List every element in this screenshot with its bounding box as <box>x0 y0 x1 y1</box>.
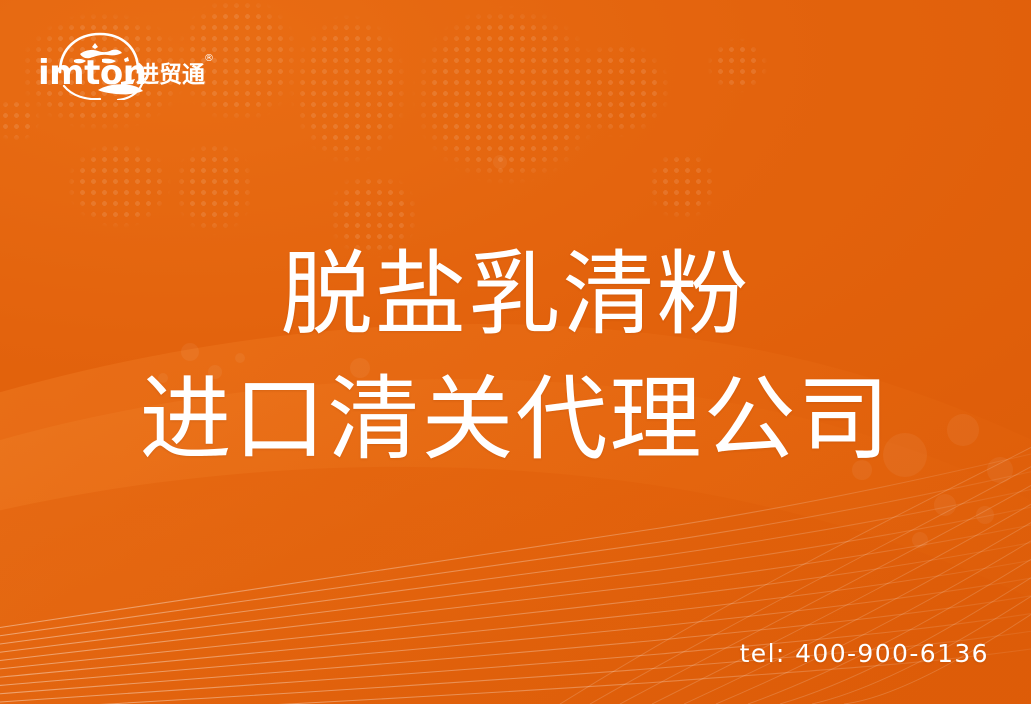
company-logo[interactable]: imton 进贸通 ® imton 进贸通 <box>38 28 213 100</box>
contact-phone[interactable]: tel: 400-900-6136 <box>740 639 989 668</box>
logo-wordmark-chinese: 进贸通 <box>136 62 205 88</box>
registered-mark-icon: ® <box>204 53 213 64</box>
headline-line-2: 进口清关代理公司 <box>0 361 1031 480</box>
headline: 脱盐乳清粉 进口清关代理公司 <box>0 236 1031 479</box>
promo-banner: imton 进贸通 ® imton 进贸通 脱盐乳清粉 进口清关代理公司 tel… <box>0 0 1031 704</box>
headline-line-1: 脱盐乳清粉 <box>0 236 1031 355</box>
logo-wordmark-latin: imton <box>38 53 146 93</box>
